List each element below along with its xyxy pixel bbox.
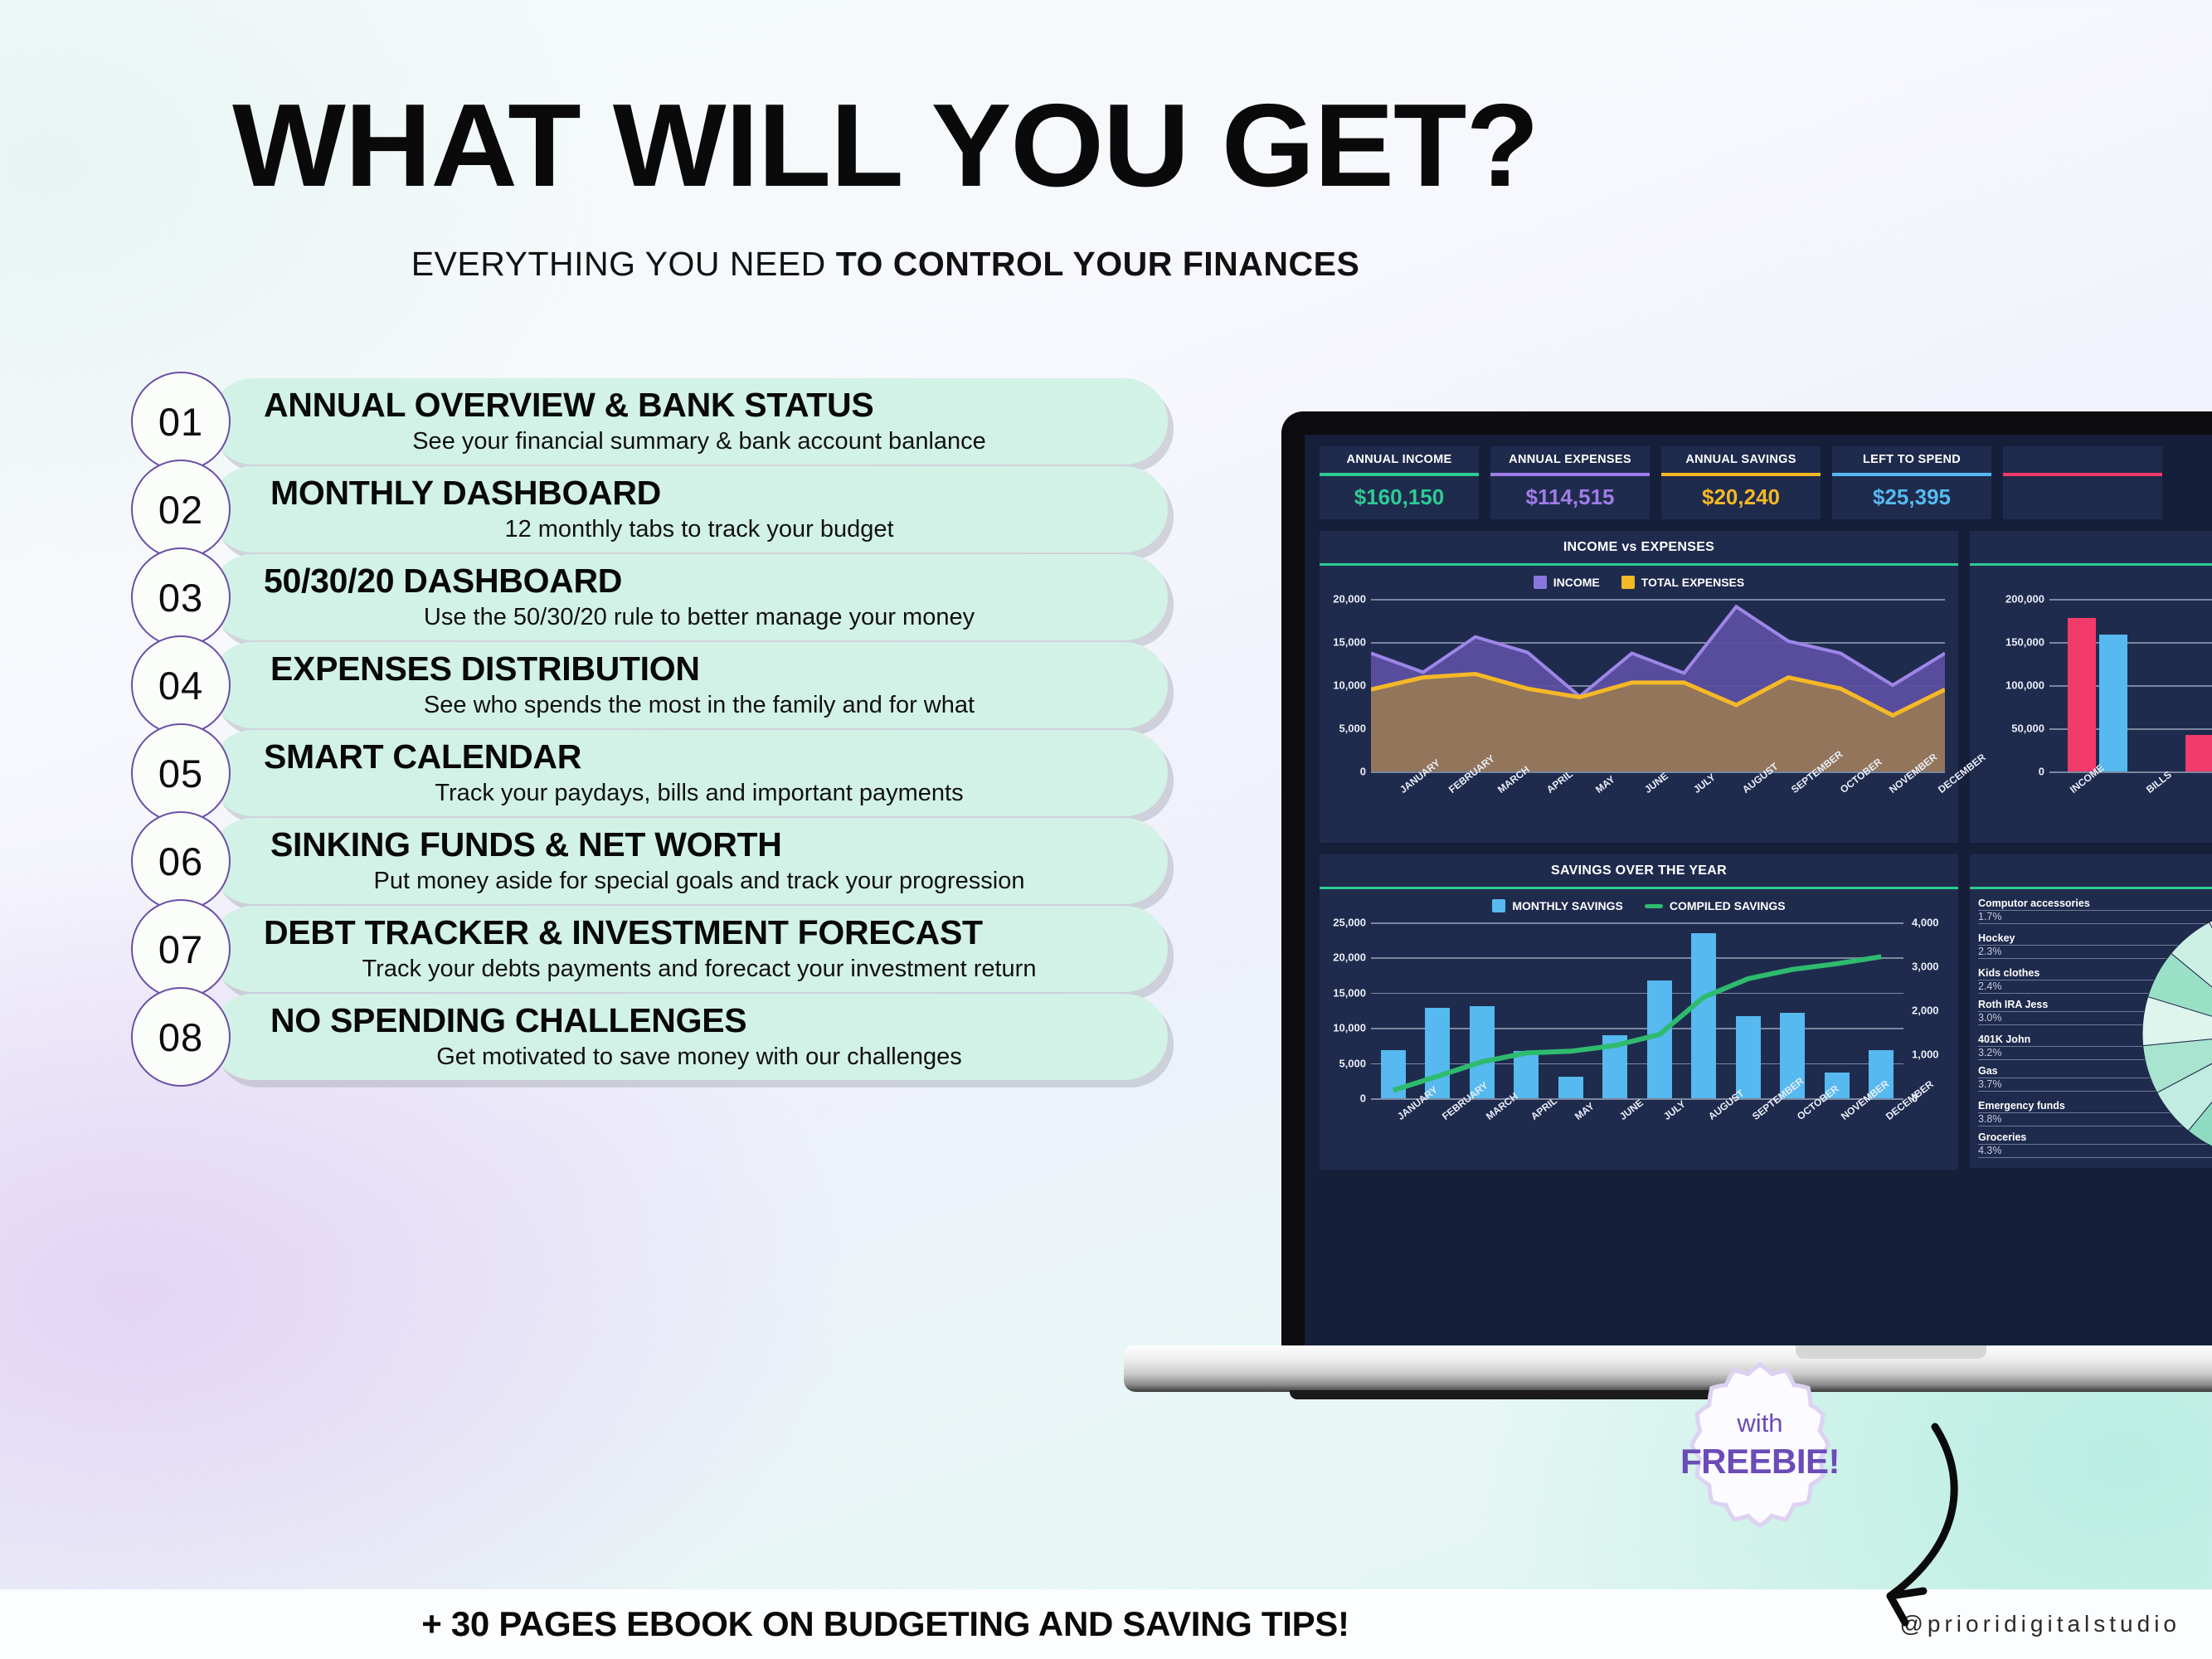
- feature-number: 04: [131, 635, 231, 735]
- footer-text: + 30 PAGES EBOOK ON BUDGETING AND SAVING…: [0, 1604, 1771, 1644]
- y-tick: 15,000: [1333, 636, 1366, 649]
- feature-row[interactable]: SINKING FUNDS & NET WORTH Put money asid…: [131, 818, 1168, 904]
- legend-label: TOTAL EXPENSES: [1641, 576, 1744, 589]
- badge-with-label: with: [1737, 1408, 1782, 1438]
- y-tick: 0: [2039, 766, 2044, 778]
- feature-desc: See who spends the most in the family an…: [264, 693, 1135, 719]
- kpi-value: $25,395: [1832, 476, 1991, 520]
- legend-item: TOTAL EXPENSES: [1621, 576, 1744, 589]
- y-axis-savings-right: 01,0002,0003,0004,000: [1907, 916, 1958, 1108]
- page-subtitle: EVERYTHING YOU NEED TO CONTROL YOUR FINA…: [0, 245, 1771, 284]
- chart-savings: 05,00010,00015,00020,00025,000 01,0002,0…: [1320, 916, 1958, 1108]
- y-tick: 20,000: [1333, 593, 1366, 606]
- laptop-mockup: ANNUAL INCOME $160,150 ANNUAL EXPENSES $…: [1281, 411, 2212, 1365]
- legend-label: MONTHLY SAVINGS: [1512, 899, 1623, 912]
- feature-title: MONTHLY DASHBOARD: [264, 475, 1135, 511]
- legend-label: COMPILED SAVINGS: [1670, 899, 1786, 912]
- page-header: WHAT WILL YOU GET? EVERYTHING YOU NEED T…: [0, 87, 1771, 284]
- page-title: WHAT WILL YOU GET?: [0, 87, 1788, 205]
- feature-desc: Use the 50/30/20 rule to better manage y…: [264, 605, 1135, 631]
- feature-desc: Get motivated to save money with our cha…: [264, 1044, 1135, 1071]
- feature-number: 07: [131, 899, 231, 999]
- kpi-card: [2003, 446, 2162, 519]
- kpi-label: ANNUAL INCOME: [1320, 446, 1479, 473]
- legend-swatch-income: [1534, 576, 1547, 589]
- feature-title: ANNUAL OVERVIEW & BANK STATUS: [264, 387, 1135, 423]
- plot-area-savings: [1371, 922, 1903, 1098]
- kpi-card: LEFT TO SPEND $25,395: [1832, 446, 1991, 519]
- bar: [2068, 618, 2096, 771]
- x-axis-annual-budget: INCOMEBILLS: [2049, 781, 2212, 843]
- panel-annual-budget: AN 050,000100,000150,000200,000: [1970, 531, 2212, 843]
- y-tick: 150,000: [2005, 636, 2044, 649]
- feature-title: NO SPENDING CHALLENGES: [264, 1003, 1135, 1039]
- feature-number: 05: [131, 723, 231, 823]
- bar-pair: [2185, 599, 2212, 771]
- y-tick: 100,000: [2005, 679, 2044, 692]
- y-tick: 2,000: [1912, 1005, 1939, 1017]
- panel-title-annual-budget: AN: [1970, 531, 2212, 566]
- feature-list: ANNUAL OVERVIEW & BANK STATUS See your f…: [131, 378, 1168, 1082]
- feature-number: 02: [131, 460, 231, 559]
- kpi-card: ANNUAL INCOME $160,150: [1320, 446, 1479, 519]
- feature-row[interactable]: DEBT TRACKER & INVESTMENT FORECAST Track…: [131, 906, 1168, 992]
- line-overlay-svg: [1371, 922, 1903, 1098]
- y-tick: 25,000: [1333, 917, 1366, 929]
- legend-swatch-compiled-savings: [1645, 904, 1663, 908]
- feature-number: 03: [131, 547, 231, 647]
- plot-area-annual-budget: [2049, 599, 2212, 771]
- kpi-value: [2003, 476, 2162, 520]
- feature-desc: Put money aside for special goals and tr…: [264, 868, 1135, 895]
- gridline: [2049, 771, 2212, 773]
- y-tick: 3,000: [1912, 961, 1939, 973]
- laptop-lid: ANNUAL INCOME $160,150 ANNUAL EXPENSES $…: [1281, 411, 2212, 1345]
- bar-pair: [2068, 599, 2127, 771]
- feature-row[interactable]: NO SPENDING CHALLENGES Get motivated to …: [131, 994, 1168, 1080]
- y-tick: 4,000: [1912, 917, 1939, 929]
- x-axis-income-expenses: JANUARYFEBRUARYMARCHAPRILMAYJUNEJULYAUGU…: [1371, 781, 1958, 843]
- y-axis-savings-left: 05,00010,00015,00020,00025,000: [1320, 916, 1371, 1108]
- panel-title-where: WHE: [1970, 854, 2212, 889]
- y-tick: 20,000: [1333, 951, 1366, 964]
- dashboard-right-column: AN 050,000100,000150,000200,000: [1970, 531, 2212, 1181]
- legend-item: MONTHLY SAVINGS: [1492, 899, 1623, 912]
- y-tick: 15,000: [1333, 986, 1366, 999]
- badge-freebie-label: FREEBIE!: [1680, 1442, 1840, 1481]
- feature-number: 06: [131, 811, 231, 911]
- legend-income-vs-expenses: INCOME TOTAL EXPENSES: [1320, 566, 1958, 592]
- feature-title: DEBT TRACKER & INVESTMENT FORECAST: [264, 915, 1135, 951]
- y-tick: 5,000: [1339, 722, 1366, 735]
- feature-row[interactable]: MONTHLY DASHBOARD 12 monthly tabs to tra…: [131, 466, 1168, 552]
- feature-title: 50/30/20 DASHBOARD: [264, 563, 1135, 599]
- feature-desc: Track your paydays, bills and important …: [264, 781, 1135, 807]
- kpi-label: [2003, 446, 2162, 473]
- bar-group-annual-budget: [2049, 599, 2212, 771]
- legend-annual-budget: [1970, 566, 2212, 592]
- chart-annual-budget: 050,000100,000150,000200,000: [1970, 592, 2212, 781]
- y-tick: 5,000: [1339, 1057, 1366, 1069]
- panel-income-vs-expenses: INCOME vs EXPENSES INCOME TOTAL EXPENSES…: [1320, 531, 1958, 843]
- subtitle-bold: TO CONTROL YOUR FINANCES: [836, 245, 1360, 283]
- budget-dashboard: ANNUAL INCOME $160,150 ANNUAL EXPENSES $…: [1305, 435, 2212, 1345]
- kpi-label: ANNUAL EXPENSES: [1490, 446, 1650, 473]
- kpi-label: LEFT TO SPEND: [1832, 446, 1991, 473]
- y-tick: 50,000: [2011, 722, 2044, 735]
- kpi-row: ANNUAL INCOME $160,150 ANNUAL EXPENSES $…: [1320, 446, 2212, 519]
- legend-savings: MONTHLY SAVINGS COMPILED SAVINGS: [1320, 889, 1958, 916]
- subtitle-plain: EVERYTHING YOU NEED: [411, 245, 836, 283]
- feature-row[interactable]: SMART CALENDAR Track your paydays, bills…: [131, 730, 1168, 816]
- feature-title: SMART CALENDAR: [264, 739, 1135, 775]
- y-tick: 0: [1360, 1092, 1366, 1105]
- y-tick: 10,000: [1333, 1022, 1366, 1034]
- freebie-badge: with FREEBIE!: [1667, 1358, 1853, 1532]
- feature-desc: 12 monthly tabs to track your budget: [264, 517, 1135, 543]
- kpi-card: ANNUAL EXPENSES $114,515: [1490, 446, 1650, 519]
- dashboard-grid: INCOME vs EXPENSES INCOME TOTAL EXPENSES…: [1320, 531, 2212, 1181]
- y-axis-income-expenses: 05,00010,00015,00020,000: [1320, 592, 1371, 781]
- panel-title-income-vs-expenses: INCOME vs EXPENSES: [1320, 531, 1958, 566]
- bar: [2185, 735, 2212, 771]
- chart-income-vs-expenses: 05,00010,00015,00020,000: [1320, 592, 1958, 781]
- y-tick: 10,000: [1333, 679, 1366, 692]
- y-tick: 0: [1360, 766, 1366, 778]
- legend-label: INCOME: [1553, 576, 1600, 589]
- legend-swatch-expenses: [1621, 576, 1635, 589]
- panel-where-money-goes: WHE Computor accessories 1.7% Hockey 2.3…: [1970, 854, 2212, 1168]
- kpi-value: $20,240: [1661, 476, 1821, 520]
- y-tick: 200,000: [2005, 593, 2044, 606]
- feature-row[interactable]: ANNUAL OVERVIEW & BANK STATUS See your f…: [131, 378, 1168, 465]
- feature-title: EXPENSES DISTRIBUTION: [264, 651, 1135, 687]
- feature-desc: See your financial summary & bank accoun…: [264, 429, 1135, 455]
- kpi-value: $160,150: [1320, 476, 1479, 520]
- panel-savings: SAVINGS OVER THE YEAR MONTHLY SAVINGS CO…: [1320, 854, 1958, 1170]
- feature-title: SINKING FUNDS & NET WORTH: [264, 827, 1135, 863]
- feature-desc: Track your debts payments and forecact y…: [264, 956, 1135, 983]
- y-tick: 1,000: [1912, 1048, 1939, 1061]
- kpi-value: $114,515: [1490, 476, 1650, 520]
- feature-number: 08: [131, 987, 231, 1087]
- y-axis-annual-budget: 050,000100,000150,000200,000: [1970, 592, 2049, 781]
- feature-number: 01: [131, 372, 231, 471]
- kpi-card: ANNUAL SAVINGS $20,240: [1661, 446, 1821, 519]
- panel-title-savings: SAVINGS OVER THE YEAR: [1320, 854, 1958, 889]
- feature-row[interactable]: EXPENSES DISTRIBUTION See who spends the…: [131, 642, 1168, 728]
- dashboard-left-column: INCOME vs EXPENSES INCOME TOTAL EXPENSES…: [1320, 531, 1958, 1181]
- bar: [2099, 635, 2127, 771]
- pie-chart-svg: [2103, 894, 2212, 1168]
- plot-area-income-expenses: [1371, 599, 1945, 771]
- kpi-label: ANNUAL SAVINGS: [1661, 446, 1821, 473]
- area-chart-svg: [1371, 599, 1945, 771]
- curved-arrow-icon: [1862, 1420, 2003, 1627]
- laptop-screen: ANNUAL INCOME $160,150 ANNUAL EXPENSES $…: [1305, 435, 2212, 1345]
- legend-swatch-monthly-savings: [1492, 899, 1505, 912]
- x-axis-savings: JANUARYFEBRUARYMARCHAPRILMAYJUNEJULYAUGU…: [1371, 1108, 1903, 1170]
- laptop-notch: [1796, 1345, 1986, 1359]
- feature-row[interactable]: 50/30/20 DASHBOARD Use the 50/30/20 rule…: [131, 554, 1168, 640]
- legend-item: COMPILED SAVINGS: [1645, 899, 1786, 912]
- legend-item: INCOME: [1534, 576, 1600, 589]
